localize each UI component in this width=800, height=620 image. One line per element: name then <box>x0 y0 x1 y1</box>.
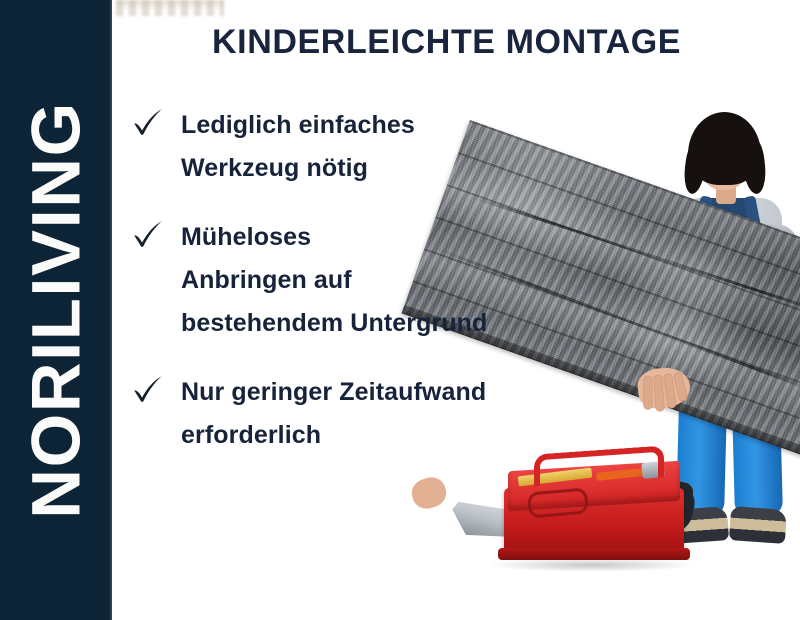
overall-bib <box>705 198 753 348</box>
check-mark-icon <box>131 372 165 406</box>
brand-name: NORILIVING <box>22 101 91 519</box>
hand-saw-handle <box>613 469 695 538</box>
work-boot-left <box>671 506 729 544</box>
spirit-level-tool <box>518 468 593 487</box>
list-item-label: Nur geringer Zeitaufwand erforderlich <box>181 371 486 457</box>
list-item-label: Lediglich einfaches Werkzeug nötig <box>181 104 415 190</box>
scan-artifact-smudge <box>116 0 224 16</box>
list-item: Nur geringer Zeitaufwand erforderlich <box>131 371 561 457</box>
trouser-leg-right <box>731 365 783 516</box>
toolbox-base <box>498 548 690 560</box>
trouser-leg-left <box>676 365 728 516</box>
feature-list: Lediglich einfaches Werkzeug nötig Mühel… <box>131 104 561 457</box>
eye-right <box>731 154 738 158</box>
overall-strap-left <box>691 195 713 248</box>
eye-left <box>709 154 716 158</box>
head <box>698 128 750 190</box>
work-boot-right <box>729 506 787 544</box>
toolbox-body <box>504 488 684 554</box>
check-mark-icon <box>131 217 165 251</box>
page-title: KINDERLEICHTE MONTAGE <box>212 23 681 62</box>
list-item: Lediglich einfaches Werkzeug nötig <box>131 104 561 190</box>
tool-shadow <box>486 558 696 572</box>
brand-sidebar: NORILIVING <box>0 0 112 620</box>
toolbox-tray <box>508 461 680 512</box>
hammer-handle <box>596 467 653 481</box>
list-item: Müheloses Anbringen auf bestehendem Unte… <box>131 216 561 345</box>
shirt-torso <box>678 198 782 386</box>
hand-left <box>408 473 450 512</box>
promo-banner: NORILIVING KINDERLEICHTE MONTAGE <box>0 0 800 620</box>
hair <box>688 112 761 185</box>
legs <box>678 366 782 538</box>
hammer-head <box>641 461 665 479</box>
red-toolbox <box>504 450 684 554</box>
list-item-label: Müheloses Anbringen auf bestehendem Unte… <box>181 216 487 345</box>
smiling-mouth <box>716 172 734 179</box>
arm-right <box>738 222 799 376</box>
overall-strap-right <box>743 195 765 248</box>
arm-left <box>657 226 715 380</box>
neck <box>716 178 736 204</box>
hand-right <box>636 365 692 410</box>
hand-saw-blade <box>447 481 649 580</box>
safety-glasses <box>527 487 589 518</box>
check-mark-icon <box>131 105 165 139</box>
brand-band-edge <box>109 0 112 620</box>
face-highlight <box>706 150 742 184</box>
tool-group <box>450 440 740 610</box>
